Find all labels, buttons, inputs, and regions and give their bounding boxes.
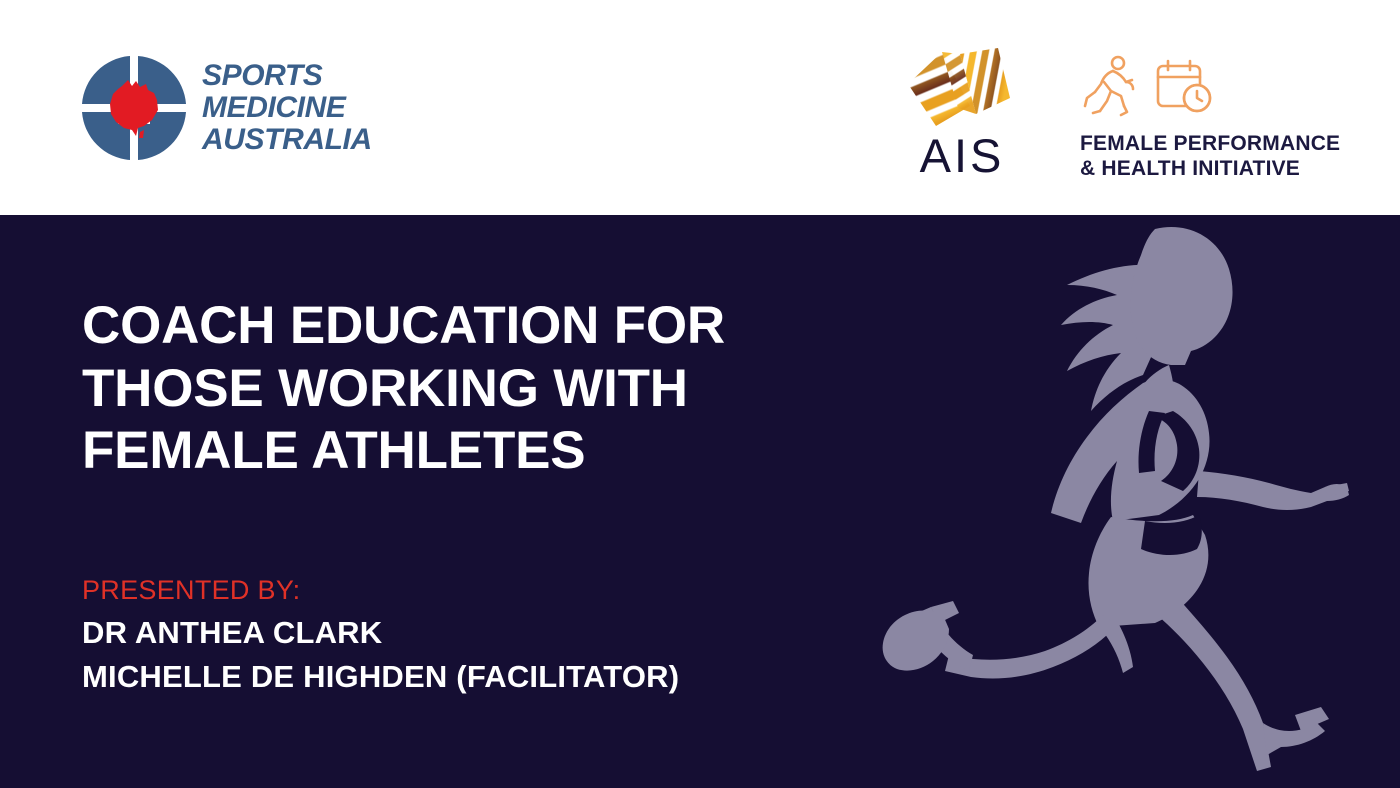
ais-wordmark: AIS (898, 132, 1026, 179)
slide-body: COACH EDUCATION FOR THOSE WORKING WITH F… (0, 215, 1400, 788)
sma-line-3: AUSTRALIA (202, 124, 372, 156)
fphi-wordmark: FEMALE PERFORMANCE & HEALTH INITIATIVE (1080, 132, 1340, 182)
sma-line-2: MEDICINE (202, 92, 372, 124)
presented-by-label: PRESENTED BY: (82, 570, 679, 611)
runner-icon (1080, 54, 1140, 120)
title-line-3: FEMALE ATHLETES (82, 420, 882, 483)
page-title: COACH EDUCATION FOR THOSE WORKING WITH F… (82, 295, 882, 483)
presenter-block: PRESENTED BY: DR ANTHEA CLARK MICHELLE D… (82, 570, 679, 699)
fphi-line-2: & HEALTH INITIATIVE (1080, 157, 1340, 182)
sports-medicine-australia-wordmark: SPORTS MEDICINE AUSTRALIA (202, 60, 372, 156)
sma-line-1: SPORTS (202, 60, 372, 92)
calendar-clock-icon (1154, 58, 1216, 120)
title-slide: SPORTS MEDICINE AUSTRALIA (0, 0, 1400, 788)
fphi-icon-row (1080, 52, 1340, 120)
female-performance-health-initiative-logo: FEMALE PERFORMANCE & HEALTH INITIATIVE (1080, 52, 1340, 182)
fphi-line-1: FEMALE PERFORMANCE (1080, 132, 1340, 157)
sports-medicine-australia-mark (78, 48, 190, 168)
presenter-name-1: DR ANTHEA CLARK (82, 611, 679, 655)
title-line-2: THOSE WORKING WITH (82, 358, 882, 421)
sports-medicine-australia-logo: SPORTS MEDICINE AUSTRALIA (78, 48, 372, 168)
ais-ribbon-mark (898, 46, 1020, 130)
female-runner-silhouette (855, 215, 1400, 788)
title-line-1: COACH EDUCATION FOR (82, 295, 882, 358)
presenter-name-2: MICHELLE DE HIGHDEN (FACILITATOR) (82, 655, 679, 699)
slide-header: SPORTS MEDICINE AUSTRALIA (0, 0, 1400, 215)
ais-logo: AIS (898, 46, 1026, 179)
